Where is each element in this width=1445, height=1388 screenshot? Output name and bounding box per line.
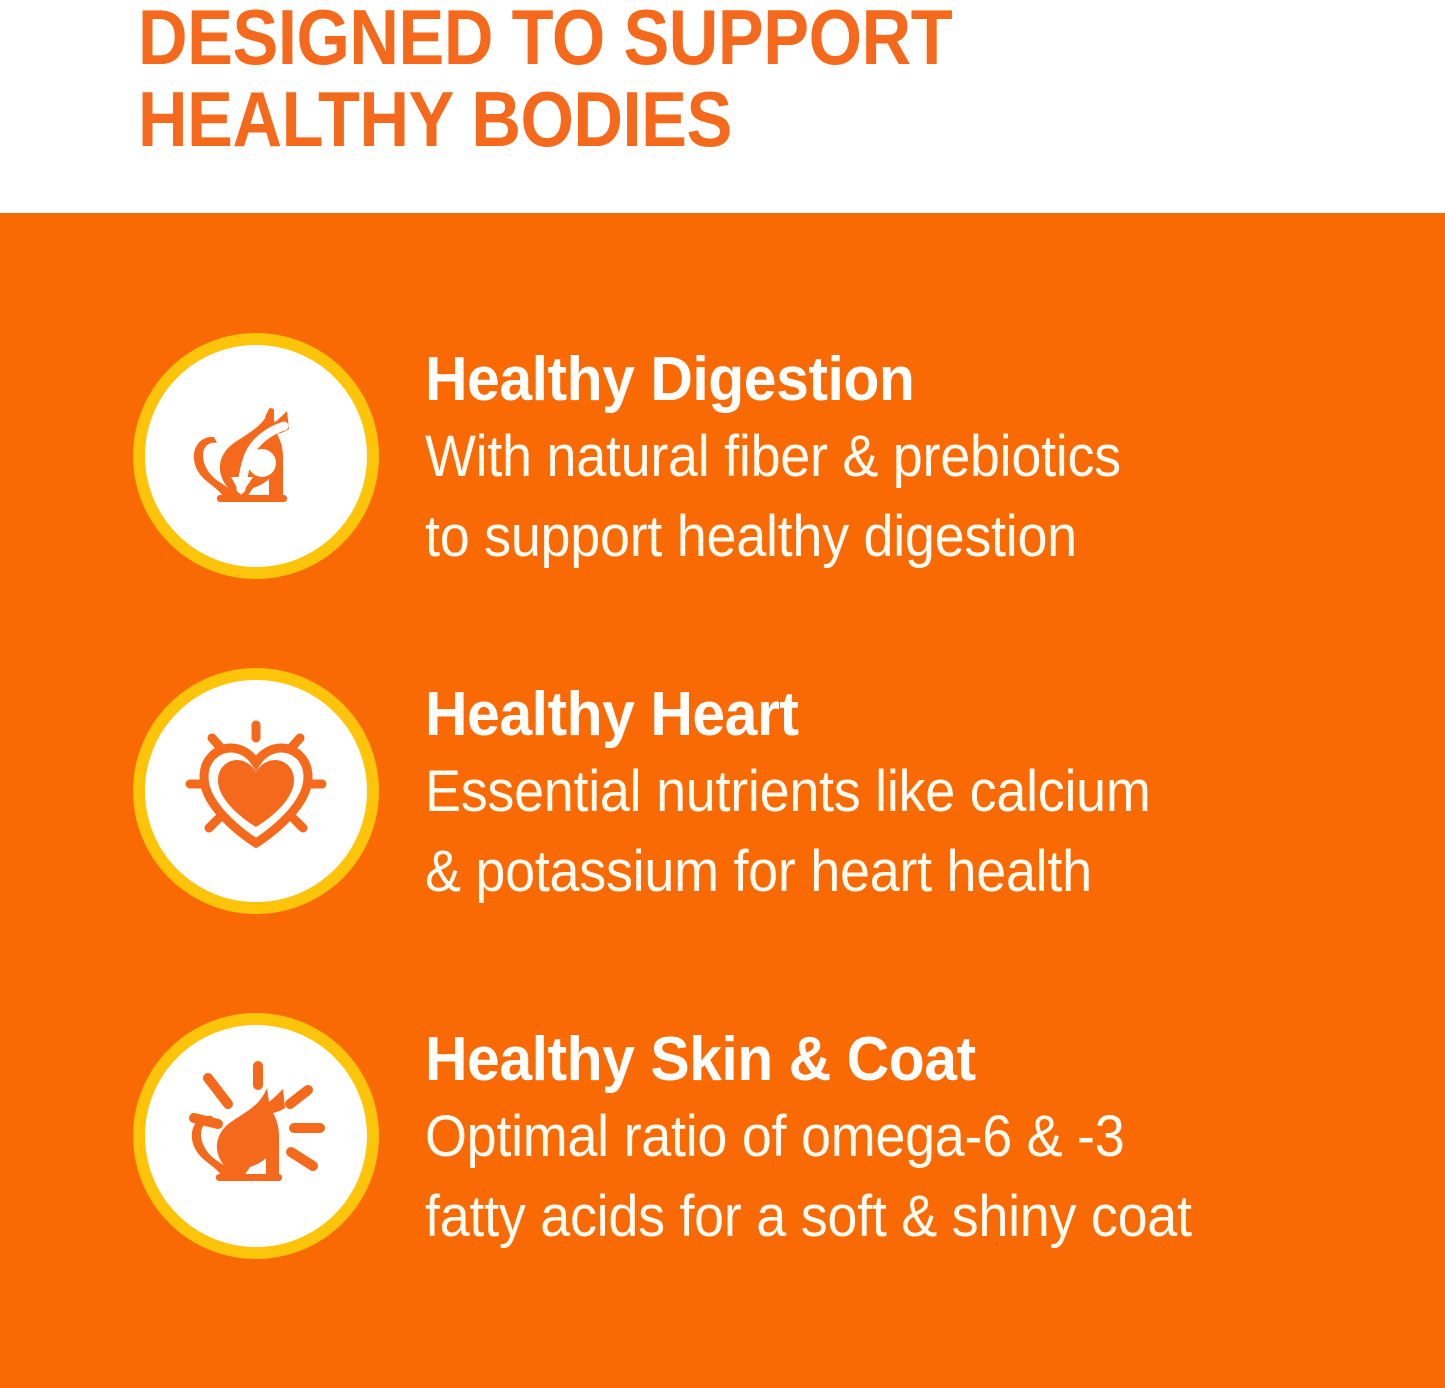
benefit-icon-badge bbox=[133, 1013, 379, 1259]
cat-digestion-icon bbox=[171, 371, 341, 541]
benefit-description: Essential nutrients like calcium & potas… bbox=[425, 752, 1318, 912]
benefit-description: Optimal ratio of omega-6 & -3 fatty acid… bbox=[425, 1097, 1318, 1257]
shiny-cat-icon bbox=[172, 1052, 340, 1220]
benefit-text-block: Healthy Digestion With natural fiber & p… bbox=[425, 343, 1385, 577]
benefit-title: Healthy Heart bbox=[425, 678, 1337, 752]
radiant-heart-icon bbox=[176, 711, 336, 871]
benefit-text-block: Healthy Heart Essential nutrients like c… bbox=[425, 678, 1385, 912]
page-title: DESIGNED TO SUPPORT HEALTHY BODIES bbox=[138, 0, 1176, 160]
benefit-icon-badge bbox=[133, 668, 379, 914]
benefits-panel: Healthy Digestion With natural fiber & p… bbox=[0, 213, 1445, 1388]
benefit-text-block: Healthy Skin & Coat Optimal ratio of ome… bbox=[425, 1023, 1385, 1257]
benefit-title: Healthy Digestion bbox=[425, 343, 1337, 417]
benefit-icon-badge bbox=[133, 333, 379, 579]
header-band: DESIGNED TO SUPPORT HEALTHY BODIES bbox=[0, 0, 1445, 213]
benefit-description: With natural fiber & prebiotics to suppo… bbox=[425, 417, 1318, 577]
benefit-title: Healthy Skin & Coat bbox=[425, 1023, 1337, 1097]
product-benefits-graphic: DESIGNED TO SUPPORT HEALTHY BODIES bbox=[0, 0, 1445, 1388]
